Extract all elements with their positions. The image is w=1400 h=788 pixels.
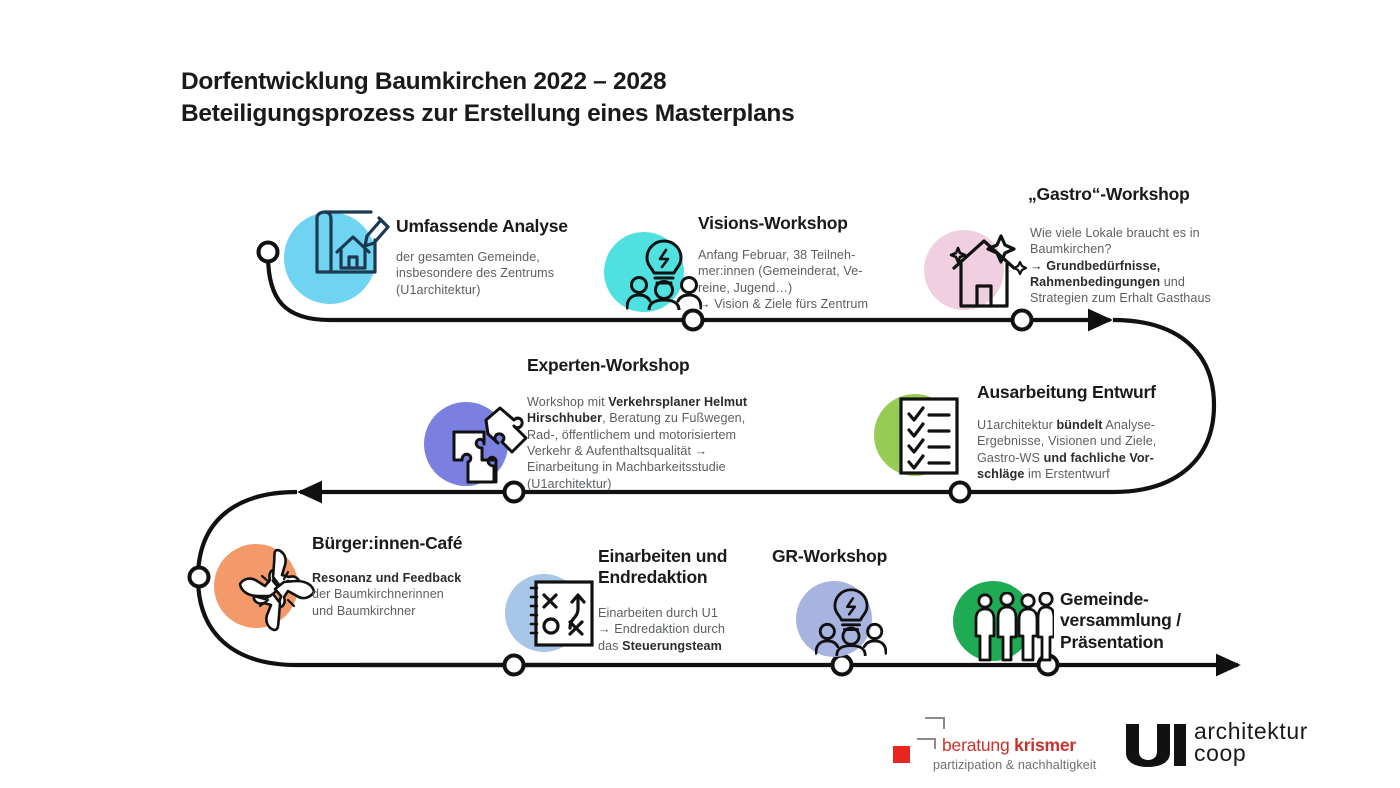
- step-gemeindeversammlung[interactable]: Gemeinde- versammlung / Präsentation: [0, 0, 1400, 788]
- krismer-corner-mark-1-icon: [917, 738, 936, 749]
- u1-mark-icon: [1124, 722, 1188, 773]
- krismer-tagline: partizipation & nachhaltigkeit: [933, 758, 1096, 772]
- slide-canvas: Dorfentwicklung Baumkirchen 2022 – 2028 …: [0, 0, 1400, 788]
- logo-beratung-krismer: beratung krismer partizipation & nachhal…: [893, 712, 1108, 774]
- u1-line-2: coop: [1194, 742, 1246, 765]
- four-people-icon: [972, 592, 1054, 664]
- krismer-red-square-icon: [893, 746, 910, 763]
- step-title-gemeinde: Gemeinde- versammlung / Präsentation: [1060, 589, 1181, 653]
- krismer-corner-mark-2-icon: [925, 717, 945, 729]
- logo-u1-architektur-coop: architektur coop: [1124, 718, 1339, 770]
- krismer-name: beratung krismer: [942, 735, 1076, 756]
